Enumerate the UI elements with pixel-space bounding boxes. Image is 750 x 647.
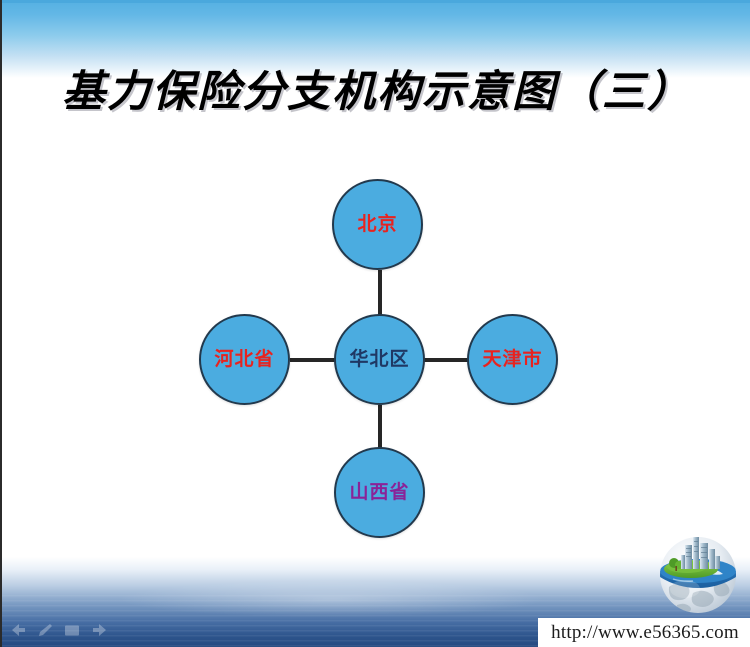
connector-center-to-bottom <box>378 405 382 452</box>
node-hebei[interactable]: 河北省 <box>199 314 290 405</box>
connector-center-to-left <box>290 358 335 362</box>
next-slide-icon[interactable] <box>91 623 108 637</box>
sky-top-edge <box>2 0 750 3</box>
node-beijing-label: 北京 <box>357 215 397 234</box>
watermark: http://www.e56365.com <box>538 618 750 647</box>
node-hebei-label: 河北省 <box>214 350 274 369</box>
sky-gradient-band <box>2 0 750 78</box>
previous-slide-icon[interactable] <box>10 623 27 637</box>
watermark-url: http://www.e56365.com <box>551 622 739 644</box>
pen-tool-icon[interactable] <box>38 623 53 637</box>
center-node[interactable]: 华北区 <box>334 314 425 405</box>
center-node-label: 华北区 <box>349 350 409 369</box>
page-title: 基力保险分支机构示意图（三） <box>2 68 750 119</box>
org-chart-diagram: 北京 河北省 华北区 天津市 山西省 <box>2 150 750 560</box>
node-tianjin-label: 天津市 <box>482 350 542 369</box>
node-beijing[interactable]: 北京 <box>332 179 423 270</box>
earth-city-globe-icon <box>647 527 749 619</box>
presentation-slide: 基力保险分支机构示意图（三） 北京 河北省 华北区 天津市 山西省 <box>0 0 750 647</box>
slide-menu-icon[interactable] <box>64 624 80 637</box>
presentation-nav-controls[interactable] <box>10 623 108 637</box>
node-tianjin[interactable]: 天津市 <box>467 314 558 405</box>
node-shanxi[interactable]: 山西省 <box>334 447 425 538</box>
node-shanxi-label: 山西省 <box>349 483 409 502</box>
connector-center-to-right <box>424 358 468 362</box>
connector-center-to-top <box>378 270 382 316</box>
ocean-horizon-glow <box>122 581 542 617</box>
